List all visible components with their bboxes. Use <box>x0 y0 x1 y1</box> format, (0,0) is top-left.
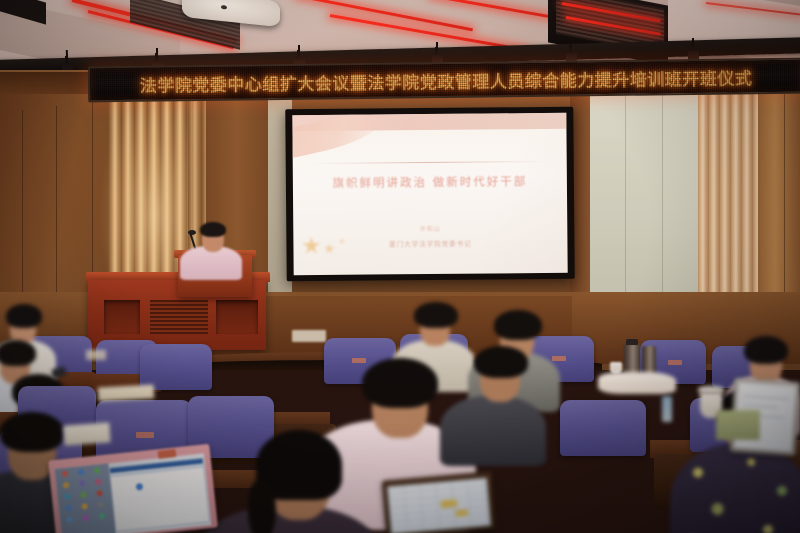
slide-star-icon: ★ <box>301 233 321 259</box>
cup-lid <box>698 386 724 394</box>
presenter-hair <box>200 222 226 237</box>
slide-speaker-name: 许和山 <box>293 223 567 234</box>
slide-title: 旗帜鲜明讲政治 做新时代好干部 <box>293 173 567 191</box>
document-window <box>109 457 210 532</box>
notepad <box>63 422 110 445</box>
microphone-head <box>188 230 196 235</box>
thermos-cap <box>626 339 638 345</box>
laptop-screen <box>387 478 491 533</box>
ponytail <box>248 480 276 533</box>
table-cloth <box>598 372 676 394</box>
wall-notice <box>292 330 326 342</box>
papers-podium <box>86 350 106 360</box>
seat-mid-right <box>560 400 646 456</box>
conference-hall-photo: 法学院党委中心组扩大会议暨法学院党政管理人员综合能力提升培训班开班仪式 旗帜鲜明… <box>0 0 800 533</box>
desktop-icons <box>55 463 116 533</box>
water-bottle <box>662 396 672 422</box>
seat-back-center-1 <box>140 344 212 390</box>
banner-text: 法学院党委中心组扩大会议暨法学院党政管理人员综合能力提升培训班开班仪式 <box>140 64 753 96</box>
projection-screen: 旗帜鲜明讲政治 做新时代好干部 许和山 厦门大学法学院党委书记 ★ ★ ★ <box>292 113 567 275</box>
notebook-green <box>716 410 760 440</box>
wall-panel-beige <box>586 92 702 322</box>
slide-star-icon: ★ <box>323 241 335 257</box>
slide-divider <box>311 161 549 164</box>
papers-on-desk <box>98 385 155 402</box>
projection-screen-frame: 旗帜鲜明讲政治 做新时代好干部 许和山 厦门大学法学院党委书记 ★ ★ ★ <box>285 107 574 282</box>
slide-star-icon: ★ <box>338 237 345 246</box>
